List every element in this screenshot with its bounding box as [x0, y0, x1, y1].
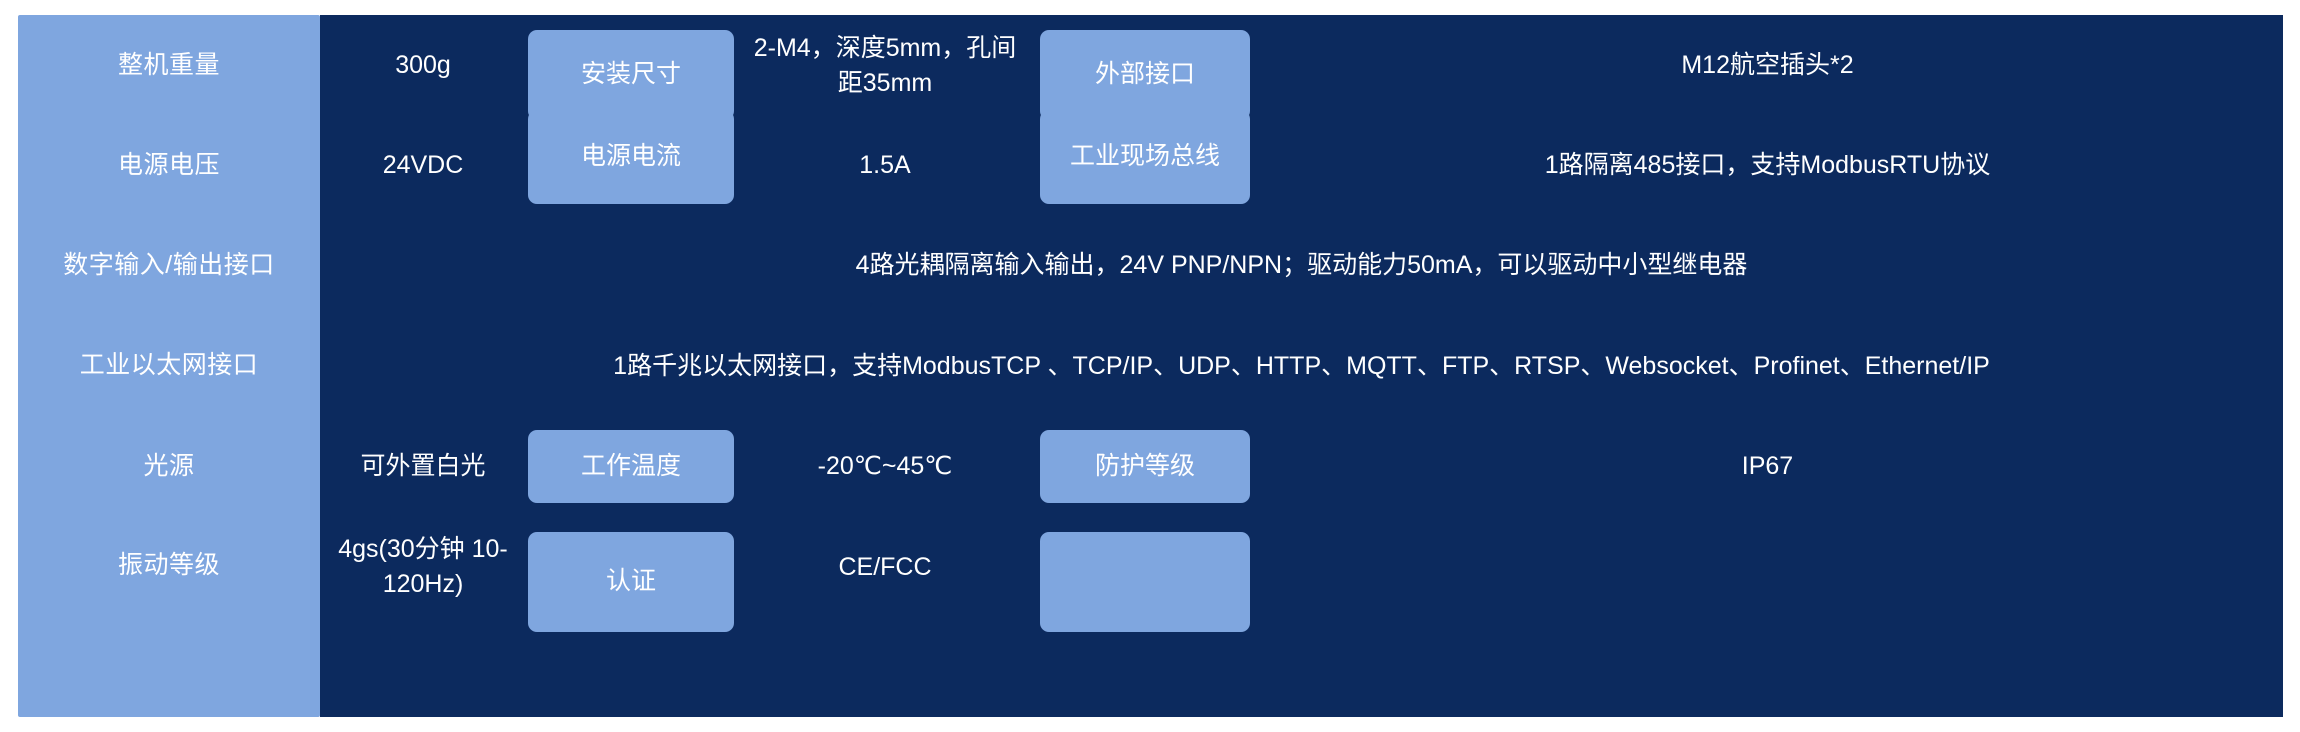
table-row: 光源 可外置白光 工作温度 -20℃~45℃ 防护等级 IP67 [0, 416, 2300, 517]
row-label-light-source: 光源 [18, 416, 320, 517]
cell-supply-voltage-value: 24VDC [320, 116, 526, 215]
row-label-vibration-rating: 振动等级 [18, 517, 320, 717]
cell-operating-temperature-value: -20℃~45℃ [736, 416, 1034, 517]
cell-empty-key [1040, 532, 1250, 632]
cell-certification-value: CE/FCC [736, 517, 1034, 617]
table-row: 电源电压 24VDC 电源电流 1.5A 工业现场总线 1路隔离485接口，支持… [0, 116, 2300, 215]
cell-light-source-value: 可外置白光 [320, 416, 526, 517]
table-row: 整机重量 300g 安装尺寸 2-M4，深度5mm，孔间距35mm 外部接口 M… [0, 15, 2300, 116]
cell-industrial-ethernet-value: 1路千兆以太网接口，支持ModbusTCP 、TCP/IP、UDP、HTTP、M… [320, 316, 2283, 416]
table-row: 数字输入/输出接口 4路光耦隔离输入输出，24V PNP/NPN；驱动能力50m… [0, 215, 2300, 316]
cell-fieldbus-key: 工业现场总线 [1040, 110, 1250, 204]
cell-supply-current-key: 电源电流 [528, 110, 734, 204]
cell-protection-rating-value: IP67 [1252, 416, 2283, 517]
cell-empty-value [1252, 517, 2283, 617]
row-label-industrial-ethernet: 工业以太网接口 [18, 316, 320, 416]
row-label-digital-io: 数字输入/输出接口 [18, 215, 320, 316]
row-label-supply-voltage: 电源电压 [18, 116, 320, 215]
spec-table: 整机重量 300g 安装尺寸 2-M4，深度5mm，孔间距35mm 外部接口 M… [0, 0, 2300, 732]
table-row: 振动等级 4gs(30分钟 10-120Hz) 认证 CE/FCC [0, 517, 2300, 717]
cell-protection-rating-key: 防护等级 [1040, 430, 1250, 503]
cell-fieldbus-value: 1路隔离485接口，支持ModbusRTU协议 [1252, 116, 2283, 215]
row-label-weight: 整机重量 [18, 15, 320, 116]
table-row: 工业以太网接口 1路千兆以太网接口，支持ModbusTCP 、TCP/IP、UD… [0, 316, 2300, 416]
cell-weight-value: 300g [320, 15, 526, 116]
cell-mounting-value: 2-M4，深度5mm，孔间距35mm [736, 15, 1034, 116]
cell-supply-current-value: 1.5A [736, 116, 1034, 215]
cell-operating-temperature-key: 工作温度 [528, 430, 734, 503]
cell-digital-io-value: 4路光耦隔离输入输出，24V PNP/NPN；驱动能力50mA，可以驱动中小型继… [320, 215, 2283, 316]
cell-certification-key: 认证 [528, 532, 734, 632]
cell-mounting-key: 安装尺寸 [528, 30, 734, 120]
spec-rows: 整机重量 300g 安装尺寸 2-M4，深度5mm，孔间距35mm 外部接口 M… [0, 15, 2300, 717]
cell-external-interface-key: 外部接口 [1040, 30, 1250, 120]
cell-external-interface-value: M12航空插头*2 [1252, 15, 2283, 116]
cell-vibration-rating-value: 4gs(30分钟 10-120Hz) [320, 517, 526, 617]
